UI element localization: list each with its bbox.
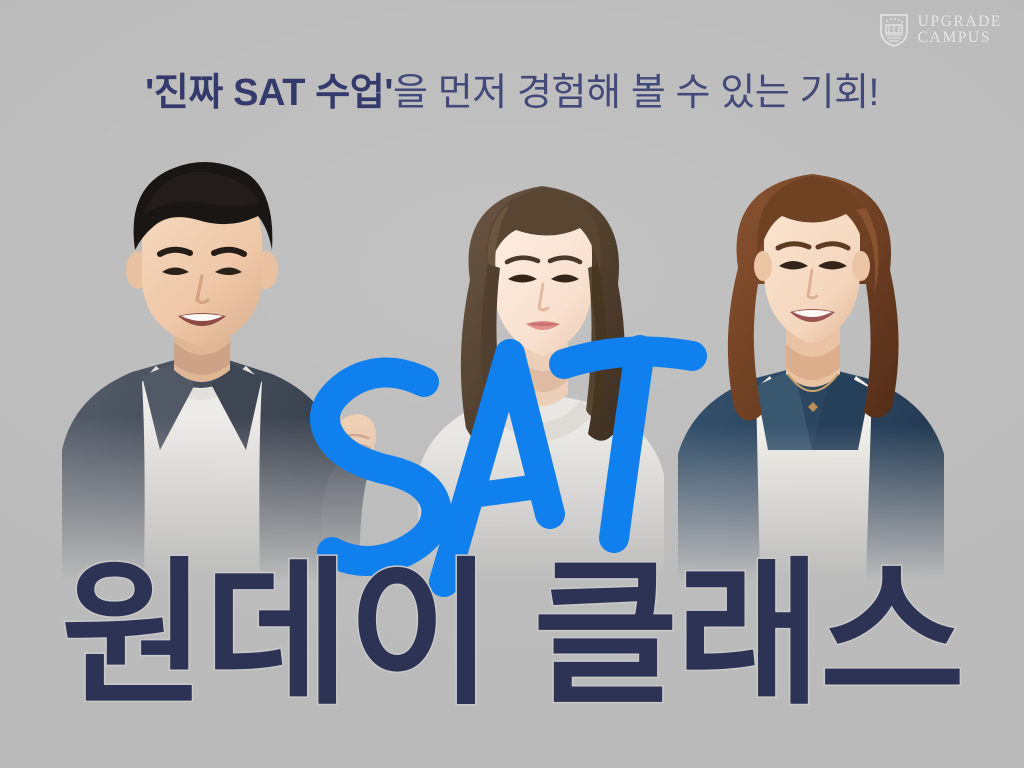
brand-logo[interactable]: UPGRADE CAMPUS: [879, 12, 1002, 48]
brand-name-line2: CAMPUS: [918, 30, 1002, 46]
page-title: '진짜 SAT 수업'을 먼저 경험해 볼 수 있는 기회!: [0, 72, 1024, 115]
headline-emphasis: '진짜 SAT 수업': [145, 72, 393, 114]
brand-name: UPGRADE CAMPUS: [918, 14, 1002, 47]
promo-poster: '진짜 SAT 수업'을 먼저 경험해 볼 수 있는 기회! 원데이 클래스 U…: [0, 0, 1024, 768]
headline-rest: 을 먼저 경험해 볼 수 있는 기회!: [393, 72, 879, 114]
shield-crest-icon: [879, 12, 909, 48]
big-title: 원데이 클래스: [0, 556, 1024, 714]
brand-name-line1: UPGRADE: [918, 14, 1002, 30]
